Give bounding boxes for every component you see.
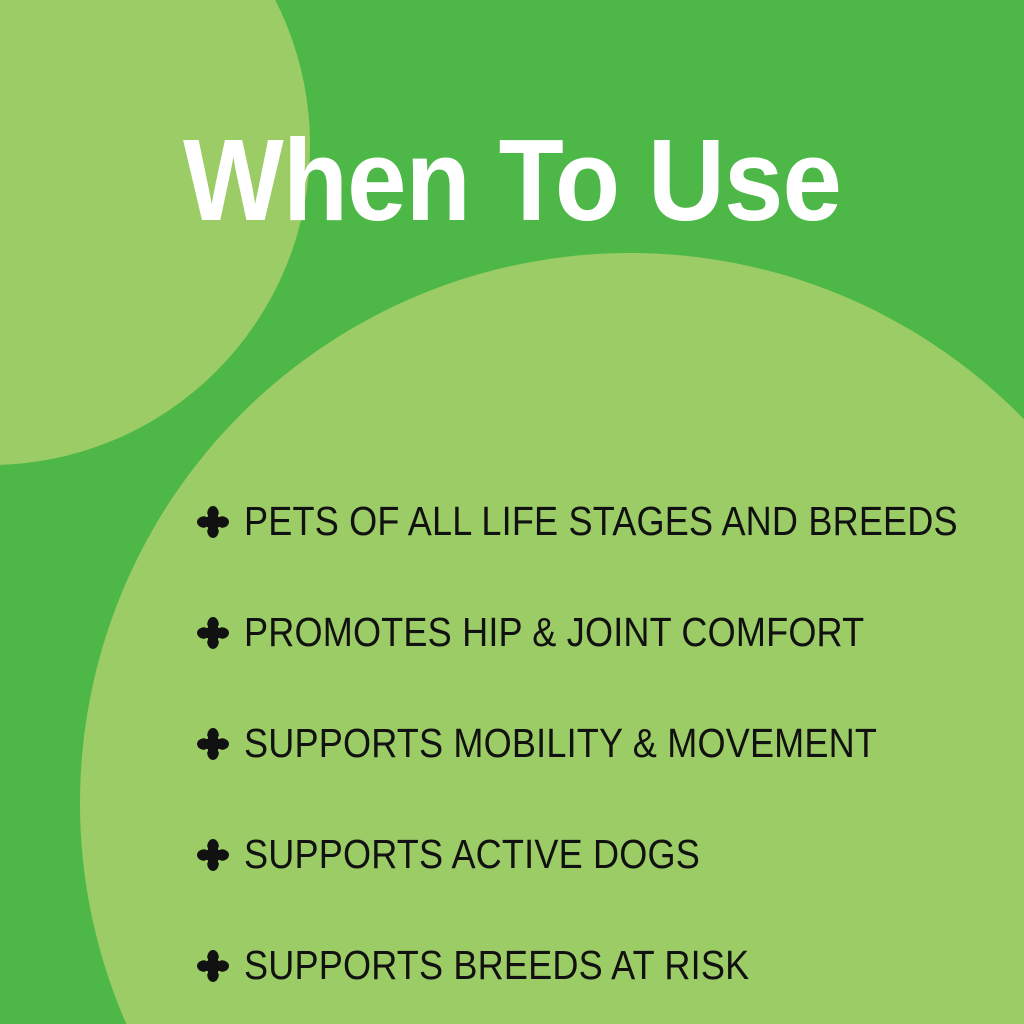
florette-bullet-icon bbox=[196, 505, 230, 539]
list-item-label: SUPPORTS ACTIVE DOGS bbox=[244, 834, 700, 875]
list-item: SUPPORTS BREEDS AT RISK bbox=[196, 910, 994, 1021]
page-title: When To Use bbox=[41, 122, 983, 238]
florette-bullet-icon bbox=[196, 727, 230, 761]
list-item-label: PETS OF ALL LIFE STAGES AND BREEDS bbox=[244, 501, 958, 542]
florette-bullet-icon bbox=[196, 616, 230, 650]
when-to-use-graphic: When To Use bbox=[0, 0, 1024, 1024]
list-item: PROMOTES HIP & JOINT COMFORT bbox=[196, 577, 994, 688]
list-item: SUPPORTS MOBILITY & MOVEMENT bbox=[196, 688, 994, 799]
list-item-label: SUPPORTS BREEDS AT RISK bbox=[244, 945, 749, 986]
list-item-label: SUPPORTS MOBILITY & MOVEMENT bbox=[244, 723, 877, 764]
list-item-label: PROMOTES HIP & JOINT COMFORT bbox=[244, 612, 864, 653]
florette-bullet-icon bbox=[196, 949, 230, 983]
benefits-list: PETS OF ALL LIFE STAGES AND BREEDS bbox=[196, 466, 994, 1021]
list-item: SUPPORTS ACTIVE DOGS bbox=[196, 799, 994, 910]
florette-bullet-icon bbox=[196, 838, 230, 872]
list-item: PETS OF ALL LIFE STAGES AND BREEDS bbox=[196, 466, 994, 577]
